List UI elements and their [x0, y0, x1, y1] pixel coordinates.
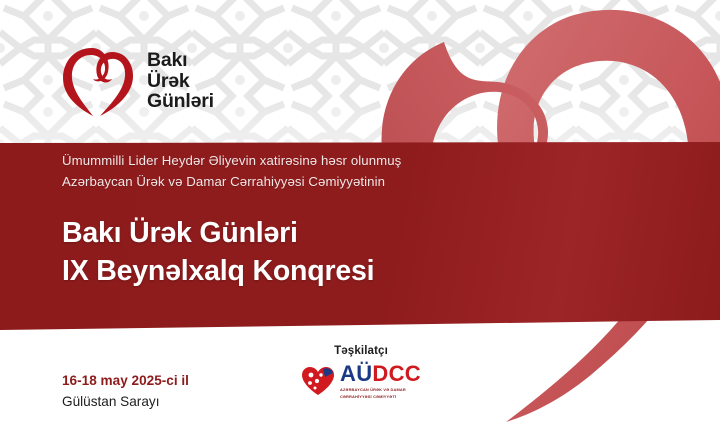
logo-line-1: Bakı — [147, 50, 214, 71]
audcc-acronym-part-1: AÜ — [340, 361, 372, 386]
audcc-logo: AÜDCC AZƏRBAYCAN ÜRƏK VƏ DAMAR CƏRRAHİYY… — [256, 363, 466, 399]
organizer-block: Təşkilatçı AÜDCC AZƏRBAYCAN ÜRƏK VƏ DAMA… — [256, 344, 466, 399]
audcc-heart-icon — [301, 366, 335, 396]
audcc-subtitle-line-2: CƏRRAHİYYƏSİ CƏMİYYƏTİ — [340, 394, 421, 400]
event-title: Bakı Ürək Günləri IX Beynəlxalq Konqresi — [62, 215, 374, 291]
conference-poster: Bakı Ürək Günləri Ümummilli Lider Heydər… — [0, 0, 720, 440]
event-title-line-2: IX Beynəlxalq Konqresi — [62, 253, 374, 291]
heart-spiral-logo-icon — [62, 44, 134, 118]
subheading-line-2: Azərbaycan Ürək və Damar Cərrahiyyəsi Cə… — [62, 171, 401, 192]
logo-line-3: Günləri — [147, 91, 214, 112]
logo-line-2: Ürək — [147, 71, 214, 92]
event-logo: Bakı Ürək Günləri — [62, 44, 214, 118]
subheading-line-1: Ümummilli Lider Heydər Əliyevin xatirəsi… — [62, 150, 401, 171]
audcc-acronym: AÜDCC — [340, 363, 421, 385]
event-date: 16-18 may 2025-ci il — [62, 370, 189, 391]
event-title-line-1: Bakı Ürək Günləri — [62, 215, 374, 253]
dedication-subheading: Ümummilli Lider Heydər Əliyevin xatirəsi… — [62, 150, 401, 193]
event-details: 16-18 may 2025-ci il Gülüstan Sarayı — [62, 370, 189, 412]
audcc-wordmark: AÜDCC AZƏRBAYCAN ÜRƏK VƏ DAMAR CƏRRAHİYY… — [340, 363, 421, 399]
audcc-acronym-part-2: DCC — [372, 361, 421, 386]
event-logo-wordmark: Bakı Ürək Günləri — [147, 50, 214, 112]
organizer-label: Təşkilatçı — [256, 344, 466, 357]
event-venue: Gülüstan Sarayı — [62, 391, 189, 412]
audcc-subtitle-line-1: AZƏRBAYCAN ÜRƏK VƏ DAMAR — [340, 387, 421, 393]
